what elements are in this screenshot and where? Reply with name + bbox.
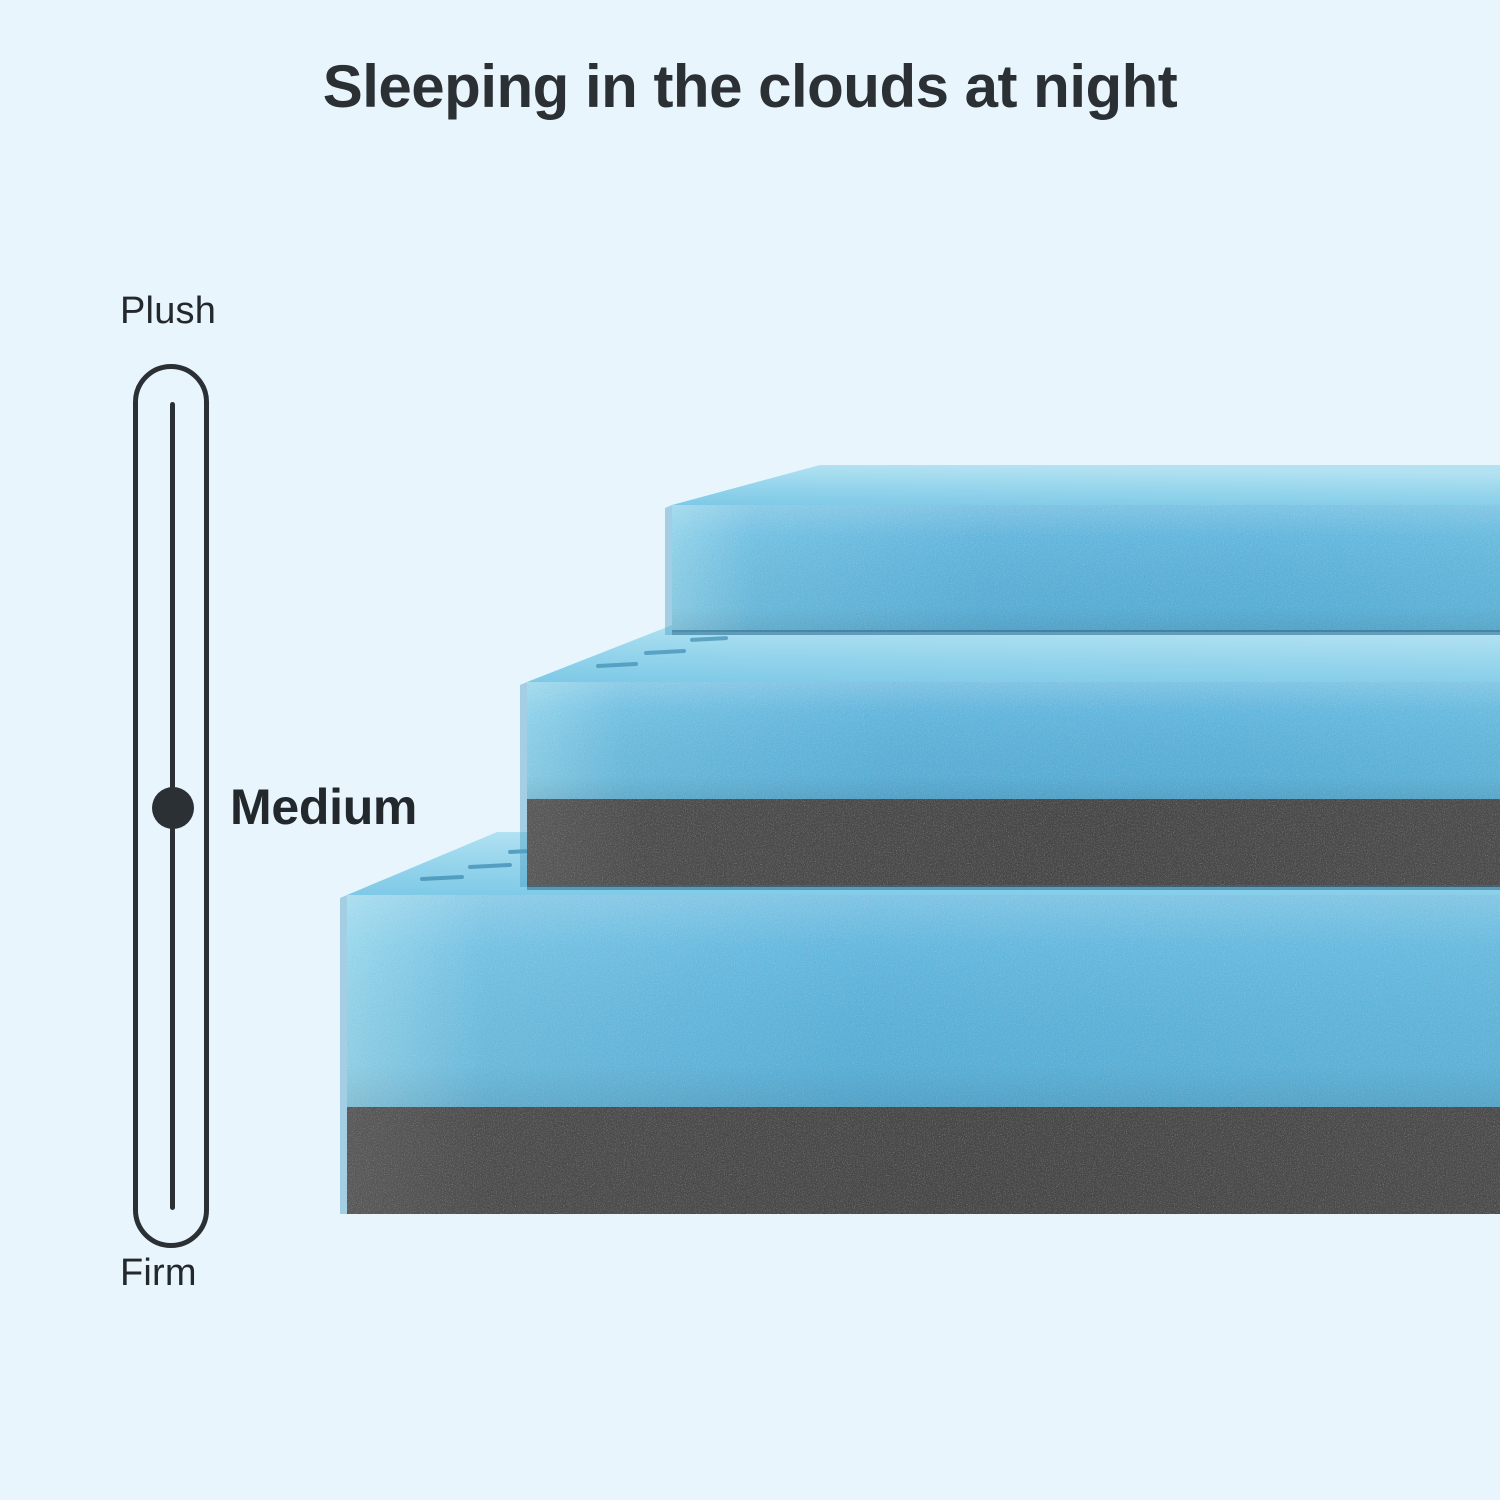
slider-thumb[interactable] bbox=[152, 787, 194, 829]
middle-slab-base-seam bbox=[527, 885, 1500, 890]
middle-slab bbox=[520, 622, 1500, 890]
middle-slab-blue-layer bbox=[527, 682, 1500, 799]
top-slab-blue-layer bbox=[672, 505, 1500, 632]
middle-slab-gray-layer bbox=[527, 799, 1500, 887]
top-slab-top-surface bbox=[672, 465, 1500, 505]
page-title: Sleeping in the clouds at night bbox=[0, 52, 1500, 121]
top-slab bbox=[665, 465, 1500, 635]
firmness-slider[interactable]: Plush Medium Firm bbox=[110, 290, 530, 1320]
middle-slab-top-surface bbox=[527, 622, 1500, 682]
slider-selected-value: Medium bbox=[230, 778, 417, 836]
image-canvas: Sleeping in the clouds at night Plush Me… bbox=[0, 0, 1500, 1500]
middle-slab-vent-slits bbox=[596, 636, 728, 668]
slider-label-plush: Plush bbox=[120, 290, 216, 333]
slider-label-firm: Firm bbox=[120, 1252, 197, 1295]
top-slab-base-seam bbox=[672, 630, 1500, 635]
